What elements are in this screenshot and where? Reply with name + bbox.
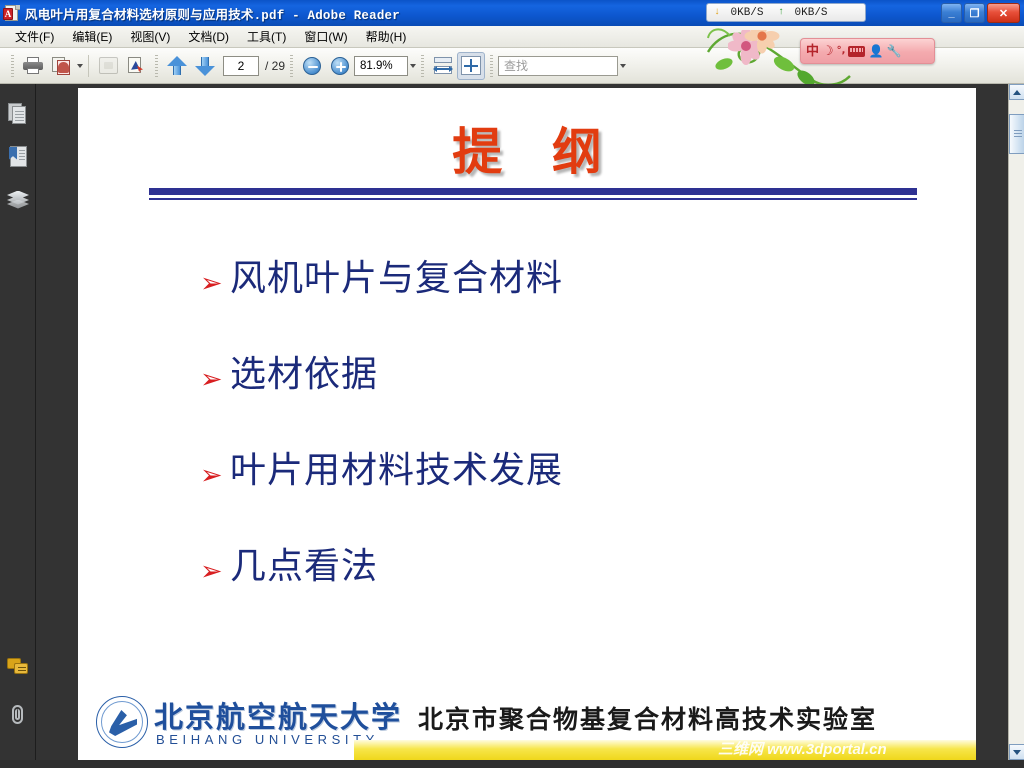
menu-window[interactable]: 窗口(W) xyxy=(295,26,356,47)
search-dropdown-icon[interactable] xyxy=(620,64,626,68)
toolbar-grip-5[interactable] xyxy=(490,55,493,77)
fit-width-button[interactable] xyxy=(429,52,457,80)
zoom-in-icon xyxy=(331,57,349,75)
copy-file-button[interactable] xyxy=(47,52,75,80)
scroll-down-button[interactable] xyxy=(1009,744,1024,760)
scroll-down-icon xyxy=(1013,750,1021,755)
menu-tools[interactable]: 工具(T) xyxy=(238,26,295,47)
list-item: ➢ 选材依据 xyxy=(200,356,900,452)
arrow-down-icon xyxy=(195,55,215,77)
bullet-marker-icon: ➢ xyxy=(200,270,230,297)
zoom-level-input[interactable]: 81.9% xyxy=(354,56,408,76)
select-tool-button[interactable] xyxy=(122,52,150,80)
pdf-page: 提 纲 ➢ 风机叶片与复合材料 ➢ 选材依据 ➢ 叶片用材料技术发展 ➢ 几点看… xyxy=(78,88,976,760)
snapshot-icon xyxy=(99,57,118,74)
bullet-text: 几点看法 xyxy=(230,548,378,586)
bullet-text: 风机叶片与复合材料 xyxy=(230,260,563,298)
download-speed: 0KB/S xyxy=(723,7,771,19)
scroll-up-icon xyxy=(1013,90,1021,95)
punctuation-icon[interactable]: °, xyxy=(837,46,846,56)
window-title: 风电叶片用复合材料选材原则与应用技术.pdf - Adobe Reader xyxy=(25,4,400,23)
university-name-en: BEIHANG UNIVERSITY xyxy=(156,732,379,747)
network-speed-monitor[interactable]: ↓ 0KB/S ↑ 0KB/S xyxy=(706,3,866,22)
toolbar-grip-4[interactable] xyxy=(421,55,424,77)
toolbar-separator xyxy=(88,55,89,77)
snapshot-button[interactable] xyxy=(94,52,122,80)
sidebar-item-comments[interactable] xyxy=(0,645,36,688)
list-item: ➢ 风机叶片与复合材料 xyxy=(200,260,900,356)
zoom-dropdown-icon[interactable] xyxy=(410,64,416,68)
zoom-out-icon xyxy=(303,57,321,75)
select-tool-icon xyxy=(127,57,145,75)
comments-icon xyxy=(7,658,29,676)
toolbar-grip-2[interactable] xyxy=(155,55,158,77)
scroll-up-button[interactable] xyxy=(1009,84,1024,100)
bullet-marker-icon: ➢ xyxy=(200,366,230,393)
half-width-moon-icon[interactable]: ☽ xyxy=(822,45,834,58)
minimize-button[interactable]: _ xyxy=(941,3,962,23)
copy-dropdown-icon[interactable] xyxy=(77,64,83,68)
fit-page-button[interactable] xyxy=(457,52,485,80)
bullet-text: 选材依据 xyxy=(230,356,378,394)
previous-page-button[interactable] xyxy=(163,52,191,80)
arrow-up-icon xyxy=(167,55,187,77)
restore-button[interactable]: ❐ xyxy=(964,3,985,23)
navigation-sidebar xyxy=(0,84,36,760)
window-controls: _ ❐ ✕ xyxy=(941,3,1020,23)
bullet-list: ➢ 风机叶片与复合材料 ➢ 选材依据 ➢ 叶片用材料技术发展 ➢ 几点看法 xyxy=(200,260,900,644)
title-rule-thick xyxy=(149,188,917,195)
menu-file[interactable]: 文件(F) xyxy=(6,26,63,47)
zoom-out-button[interactable] xyxy=(298,52,326,80)
window-titlebar: A 风电叶片用复合材料选材原则与应用技术.pdf - Adobe Reader … xyxy=(0,0,1024,26)
sidebar-item-attachments[interactable] xyxy=(0,693,36,736)
bullet-marker-icon: ➢ xyxy=(200,462,230,489)
university-seal-icon xyxy=(96,696,148,748)
watermark: 三维网 www.3dportal.cn xyxy=(718,738,887,759)
sidebar-item-pages[interactable] xyxy=(0,92,36,135)
fit-width-icon xyxy=(433,57,453,75)
zoom-in-button[interactable] xyxy=(326,52,354,80)
scrollbar-thumb[interactable] xyxy=(1009,114,1024,154)
upload-speed: 0KB/S xyxy=(787,7,835,19)
vertical-scrollbar[interactable] xyxy=(1008,84,1024,760)
page-total-label: / 29 xyxy=(265,59,285,73)
toolbar-grip-3[interactable] xyxy=(290,55,293,77)
printer-icon xyxy=(23,57,43,74)
menu-help[interactable]: 帮助(H) xyxy=(357,26,416,47)
sidebar-item-layers[interactable] xyxy=(0,178,36,221)
copy-file-icon xyxy=(52,57,71,75)
close-button[interactable]: ✕ xyxy=(987,3,1020,23)
upload-arrow-icon: ↑ xyxy=(778,7,784,18)
university-name-cn: 北京航空航天大学 xyxy=(154,694,402,736)
next-page-button[interactable] xyxy=(191,52,219,80)
bookmark-icon xyxy=(8,146,28,168)
search-input[interactable]: 查找 xyxy=(498,56,618,76)
sidebar-item-bookmarks[interactable] xyxy=(0,135,36,178)
paperclip-icon xyxy=(9,704,27,726)
slide-title: 提 纲 xyxy=(78,112,976,184)
ime-toolbar-bar[interactable]: 中 ☽ °, 👤 🔧 xyxy=(800,38,935,64)
page-number-input[interactable]: 2 xyxy=(223,56,259,76)
pages-thumbnail-icon xyxy=(8,103,28,125)
pdf-document-icon: A xyxy=(3,4,21,22)
list-item: ➢ 叶片用材料技术发展 xyxy=(200,452,900,548)
document-viewport[interactable]: 提 纲 ➢ 风机叶片与复合材料 ➢ 选材依据 ➢ 叶片用材料技术发展 ➢ 几点看… xyxy=(36,84,1008,760)
bullet-text: 叶片用材料技术发展 xyxy=(230,452,563,490)
fit-page-icon xyxy=(461,56,481,75)
menu-edit[interactable]: 编辑(E) xyxy=(63,26,121,47)
bullet-marker-icon: ➢ xyxy=(200,558,230,585)
menu-document[interactable]: 文档(D) xyxy=(179,26,238,47)
layers-icon xyxy=(7,191,29,209)
title-rule-thin xyxy=(149,198,917,200)
wrench-icon[interactable]: 🔧 xyxy=(886,45,901,57)
lab-name: 北京市聚合物基复合材料高技术实验室 xyxy=(418,700,877,736)
menu-view[interactable]: 视图(V) xyxy=(121,26,179,47)
soft-keyboard-icon[interactable] xyxy=(848,46,865,57)
toolbar-grip[interactable] xyxy=(11,55,14,77)
ime-mode-button[interactable]: 中 xyxy=(806,45,819,58)
list-item: ➢ 几点看法 xyxy=(200,548,900,644)
download-arrow-icon: ↓ xyxy=(714,7,720,18)
print-button[interactable] xyxy=(19,52,47,80)
user-icon[interactable]: 👤 xyxy=(868,45,883,57)
